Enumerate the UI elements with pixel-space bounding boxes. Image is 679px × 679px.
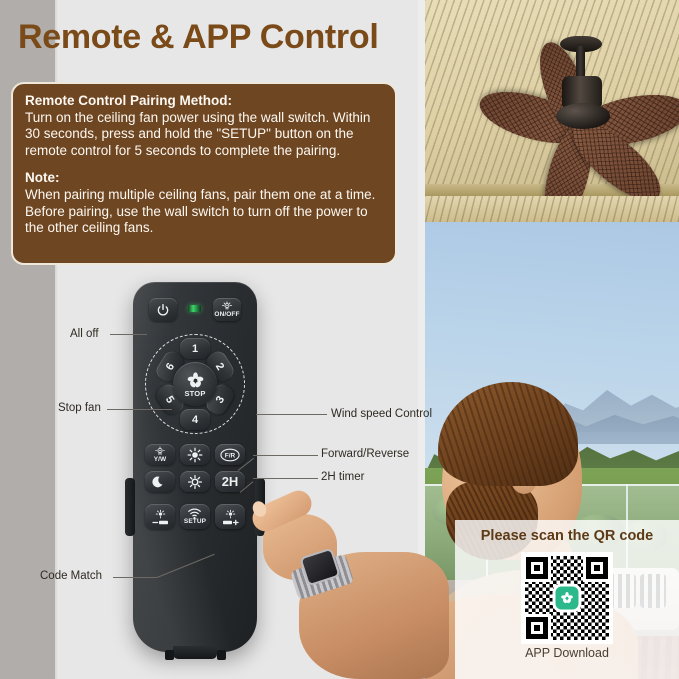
qr-title: Please scan the QR code <box>455 528 679 544</box>
qr-finder-bottom-left <box>526 617 548 639</box>
color-temp-down-button[interactable] <box>145 504 175 529</box>
leader-line-forward-reverse <box>253 455 318 456</box>
light-onoff-button[interactable]: ON/OFF <box>213 298 241 321</box>
callout-forward-reverse: Forward/Reverse <box>321 448 409 460</box>
callout-all-off: All off <box>70 328 99 340</box>
plus-bar-icon <box>222 520 239 525</box>
instruction-panel: Remote Control Pairing Method: Turn on t… <box>11 82 397 265</box>
callout-code-match: Code Match <box>40 570 102 582</box>
svg-text:F/R: F/R <box>225 452 236 459</box>
page-title: Remote & APP Control <box>18 18 378 57</box>
qr-code[interactable] <box>521 552 613 644</box>
fan-blade-icon <box>186 371 205 390</box>
brightness-down-button[interactable] <box>180 471 210 492</box>
fr-icon: F/R <box>219 447 241 463</box>
timer-2h-button[interactable]: 2H <box>215 471 245 492</box>
remote-foot <box>217 650 226 660</box>
brightness-up-button[interactable] <box>180 444 210 465</box>
speed-button-1[interactable]: 1 <box>180 338 210 359</box>
callout-stop-fan: Stop fan <box>58 402 101 414</box>
leader-line-code-match <box>113 577 157 578</box>
note-heading: Note: <box>25 170 383 187</box>
pairing-heading: Remote Control Pairing Method: <box>25 93 383 110</box>
stop-label: STOP <box>184 389 205 398</box>
infographic-canvas: Remote & APP Control Remote Control Pair… <box>0 0 679 679</box>
stop-fan-button[interactable]: STOP <box>173 362 217 406</box>
led-indicator <box>188 305 201 312</box>
qr-modules <box>525 556 609 640</box>
leader-line-2h-timer <box>253 478 318 479</box>
fan-hub <box>556 103 610 129</box>
qr-finder-top-right <box>586 557 608 579</box>
remote-base-tab <box>173 646 217 659</box>
temp-minus-icon <box>154 509 167 520</box>
qr-caption: APP Download <box>455 646 679 660</box>
fan-downrod <box>576 46 585 80</box>
color-temp-up-button[interactable] <box>215 504 245 529</box>
leader-line-wind-speed <box>256 414 327 415</box>
remote-side-clip <box>125 478 135 536</box>
sun-dim-icon <box>187 474 203 490</box>
power-icon <box>156 303 170 317</box>
color-temp-label: Y/W <box>154 457 167 464</box>
remote-control: ON/OFF 1 2 3 4 5 6 <box>133 282 257 652</box>
spacer <box>25 159 383 170</box>
power-button[interactable] <box>149 298 177 321</box>
sun-bright-icon <box>187 447 203 463</box>
remote-keypad: Y/W F/R <box>143 444 247 542</box>
callout-wind-speed: Wind speed Control <box>331 408 432 420</box>
leader-line-stop-fan <box>107 409 172 410</box>
speed-button-4[interactable]: 4 <box>180 409 210 430</box>
setup-pairing-button[interactable]: SETUP <box>180 504 210 529</box>
pointing-hand <box>255 486 440 679</box>
color-temp-toggle-button[interactable]: Y/W <box>145 444 175 465</box>
fan-app-icon <box>556 587 579 610</box>
qr-overlay-panel: Please scan the QR code <box>455 520 679 679</box>
ceiling-fan-photo <box>424 0 679 196</box>
remote-foot <box>165 650 174 660</box>
note-body: When pairing multiple ceiling fans, pair… <box>25 187 383 236</box>
patio-soffit <box>424 196 679 222</box>
leader-line-all-off <box>110 334 147 335</box>
callout-2h-timer: 2H timer <box>321 471 364 483</box>
temp-plus-icon <box>224 509 237 520</box>
app-fan-glyph <box>560 591 575 606</box>
pairing-body: Turn on the ceiling fan power using the … <box>25 110 383 159</box>
minus-bar-icon <box>152 520 169 525</box>
moon-icon <box>153 474 168 489</box>
qr-finder-top-left <box>526 557 548 579</box>
wind-speed-dial: 1 2 3 4 5 6 STOP <box>145 334 245 434</box>
light-onoff-label: ON/OFF <box>214 312 239 319</box>
night-mode-button[interactable] <box>145 471 175 492</box>
forward-reverse-button[interactable]: F/R <box>215 444 245 465</box>
setup-label: SETUP <box>184 519 206 526</box>
